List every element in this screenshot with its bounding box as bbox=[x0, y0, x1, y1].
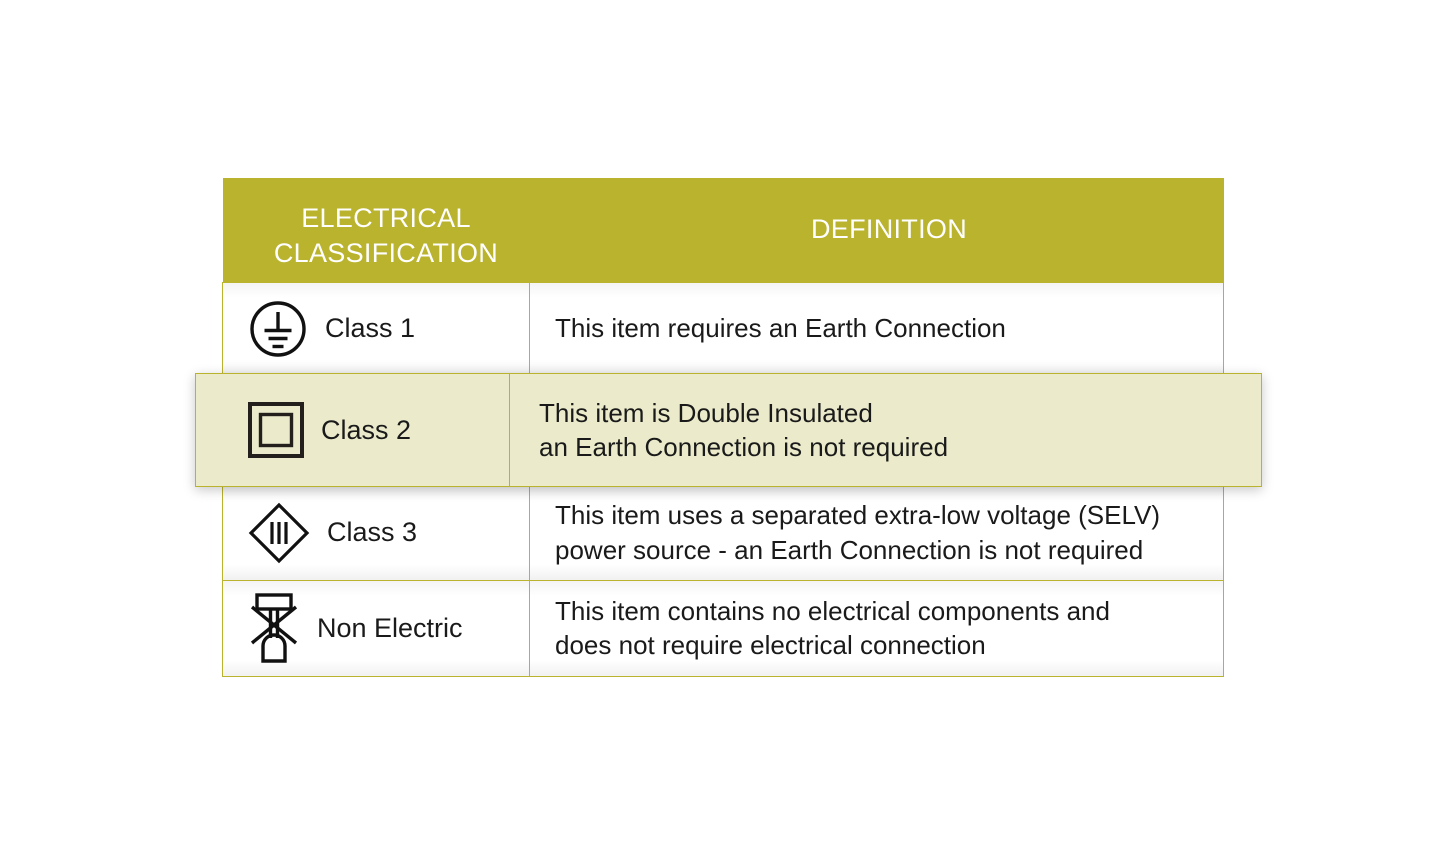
definition-line: an Earth Connection is not required bbox=[539, 430, 1261, 464]
earth-ground-icon bbox=[247, 298, 309, 360]
double-square-insulation-icon bbox=[247, 401, 305, 459]
table-row: Class 1 This item requires an Earth Conn… bbox=[223, 282, 1224, 375]
definition-cell: This item is Double Insulated an Earth C… bbox=[510, 396, 1261, 465]
definition-cell: This item uses a separated extra-low vol… bbox=[530, 485, 1224, 580]
table-header: ELECTRICAL CLASSIFICATION DEFINITION bbox=[223, 178, 1224, 282]
column-header-classification-line1: ELECTRICAL bbox=[243, 201, 530, 236]
classification-label: Class 1 bbox=[325, 313, 415, 344]
crossed-out-plug-icon bbox=[247, 590, 301, 666]
definition-line: This item is Double Insulated bbox=[539, 396, 1261, 430]
classification-cell: Class 1 bbox=[223, 282, 530, 375]
table-row: Non Electric This item contains no elect… bbox=[223, 580, 1224, 676]
definition-line: This item requires an Earth Connection bbox=[555, 311, 1223, 345]
classification-cell: Class 3 bbox=[223, 485, 530, 580]
definition-cell: This item requires an Earth Connection bbox=[530, 282, 1224, 375]
classification-label: Non Electric bbox=[317, 613, 463, 644]
definition-cell: This item contains no electrical compone… bbox=[530, 580, 1224, 676]
table-row: Class 3 This item uses a separated extra… bbox=[223, 485, 1224, 580]
column-header-definition: DEFINITION bbox=[530, 178, 1224, 282]
highlighted-row-class-2[interactable]: Class 2 This item is Double Insulated an… bbox=[195, 373, 1262, 487]
definition-line: This item contains no electrical compone… bbox=[555, 594, 1223, 628]
table-header-row: ELECTRICAL CLASSIFICATION DEFINITION bbox=[223, 178, 1224, 282]
classification-cell: Non Electric bbox=[223, 580, 530, 676]
definition-line: power source - an Earth Connection is no… bbox=[555, 533, 1223, 567]
diamond-three-bars-icon bbox=[247, 501, 311, 565]
column-header-electrical-classification: ELECTRICAL CLASSIFICATION bbox=[223, 178, 530, 282]
definition-line: does not require electrical connection bbox=[555, 628, 1223, 662]
classification-cell: Class 2 bbox=[196, 374, 510, 486]
column-header-classification-line2: CLASSIFICATION bbox=[243, 236, 530, 271]
definition-line: This item uses a separated extra-low vol… bbox=[555, 498, 1223, 532]
classification-label: Class 3 bbox=[327, 517, 417, 548]
classification-label: Class 2 bbox=[321, 415, 411, 446]
